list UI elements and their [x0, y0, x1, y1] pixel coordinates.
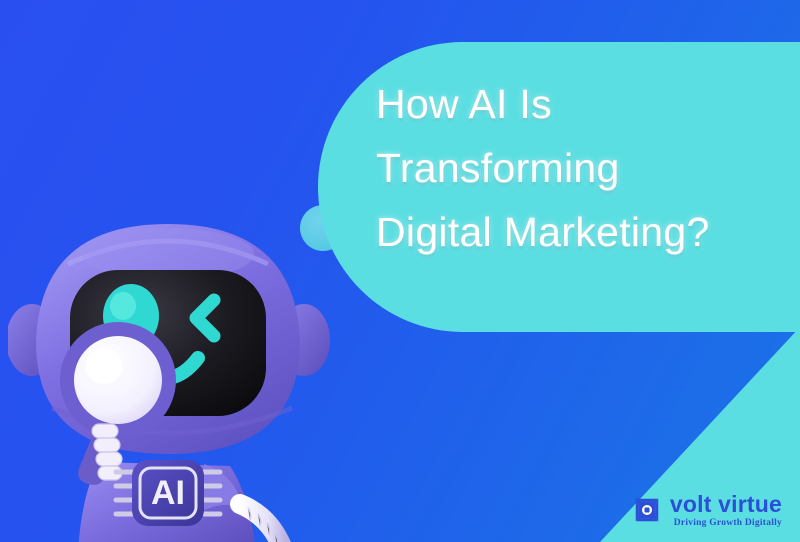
- volt-virtue-mark-icon: [632, 495, 662, 525]
- brand-name: volt virtue: [670, 493, 782, 516]
- banner-canvas: How AI Is Transforming Digital Marketing…: [0, 0, 800, 542]
- chip-label: AI: [151, 474, 185, 512]
- ai-robot-mascot: AI: [8, 212, 338, 542]
- headline-title: How AI Is Transforming Digital Marketing…: [376, 72, 796, 264]
- brand-logo[interactable]: volt virtue Driving Growth Digitally: [632, 493, 782, 529]
- brand-tagline: Driving Growth Digitally: [670, 519, 782, 529]
- speech-bubble: How AI Is Transforming Digital Marketing…: [318, 42, 800, 332]
- brand-logo-text: volt virtue Driving Growth Digitally: [670, 493, 782, 529]
